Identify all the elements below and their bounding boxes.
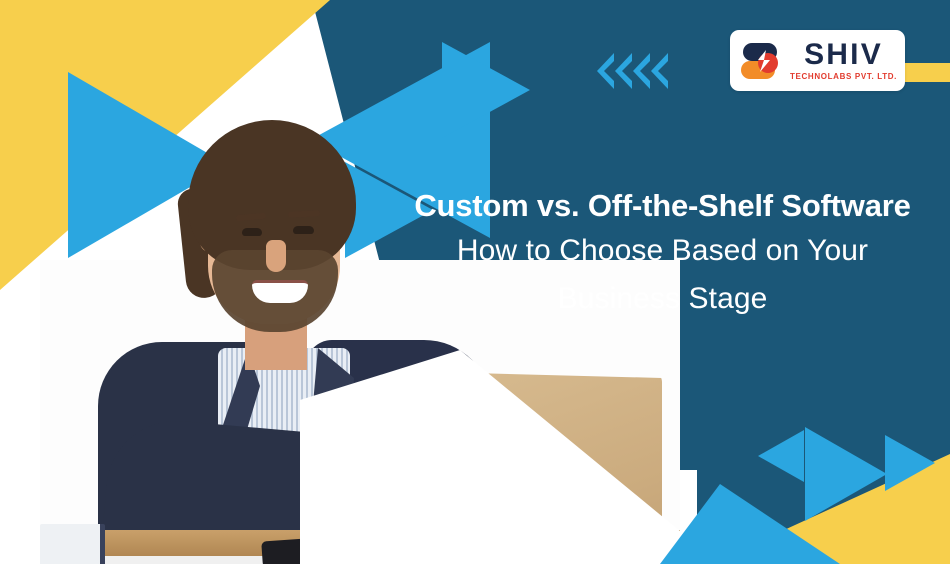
- chevron-left-icon: [615, 53, 632, 89]
- triangle-bottom-right-big: [805, 427, 887, 521]
- nose: [266, 240, 286, 272]
- headline-line-1: Custom vs. Off-the-Shelf Software: [390, 186, 935, 227]
- logo-accent-bar: [903, 63, 950, 82]
- chevron-left-icon: [597, 53, 614, 89]
- headline-block: Custom vs. Off-the-Shelf Software How to…: [390, 186, 935, 323]
- notebook: [40, 524, 105, 564]
- chevron-left-icon: [633, 53, 650, 89]
- logo-wordmark: SHIV: [804, 40, 883, 70]
- eye-left: [242, 228, 262, 236]
- triangle-bottom-right-small: [885, 435, 935, 491]
- triangle-bottom-right-left-small: [758, 430, 804, 482]
- shiv-technolabs-logo-mark-icon: [738, 41, 782, 81]
- headline-line-3: Business Stage: [390, 275, 935, 323]
- logo-tagline: TECHNOLABS PVT. LTD.: [790, 73, 897, 81]
- blog-banner: SHIV TECHNOLABS PVT. LTD. Custom vs. Off…: [0, 0, 950, 564]
- chevron-group: [597, 53, 668, 89]
- chevron-left-icon: [651, 53, 668, 89]
- mouth: [252, 280, 308, 303]
- logo-text: SHIV TECHNOLABS PVT. LTD.: [790, 40, 897, 81]
- headline-line-2: How to Choose Based on Your: [390, 227, 935, 275]
- eye-right: [293, 226, 314, 234]
- company-logo[interactable]: SHIV TECHNOLABS PVT. LTD.: [730, 30, 905, 91]
